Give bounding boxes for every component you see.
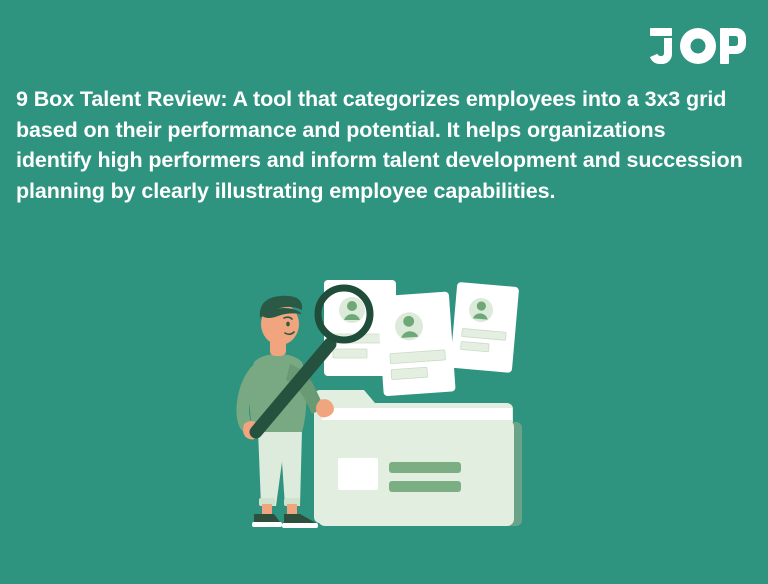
headline-text: 9 Box Talent Review: A tool that categor… <box>16 84 746 206</box>
logo-letter-o <box>680 28 716 64</box>
profile-card-right <box>450 282 519 373</box>
jop-logo <box>650 26 746 66</box>
talent-review-illustration <box>232 272 542 534</box>
profile-card-middle <box>377 291 456 396</box>
logo-letter-p <box>720 28 746 64</box>
logo-letter-j <box>650 28 672 64</box>
slide-canvas: 9 Box Talent Review: A tool that categor… <box>0 0 768 584</box>
file-folder <box>314 390 522 526</box>
